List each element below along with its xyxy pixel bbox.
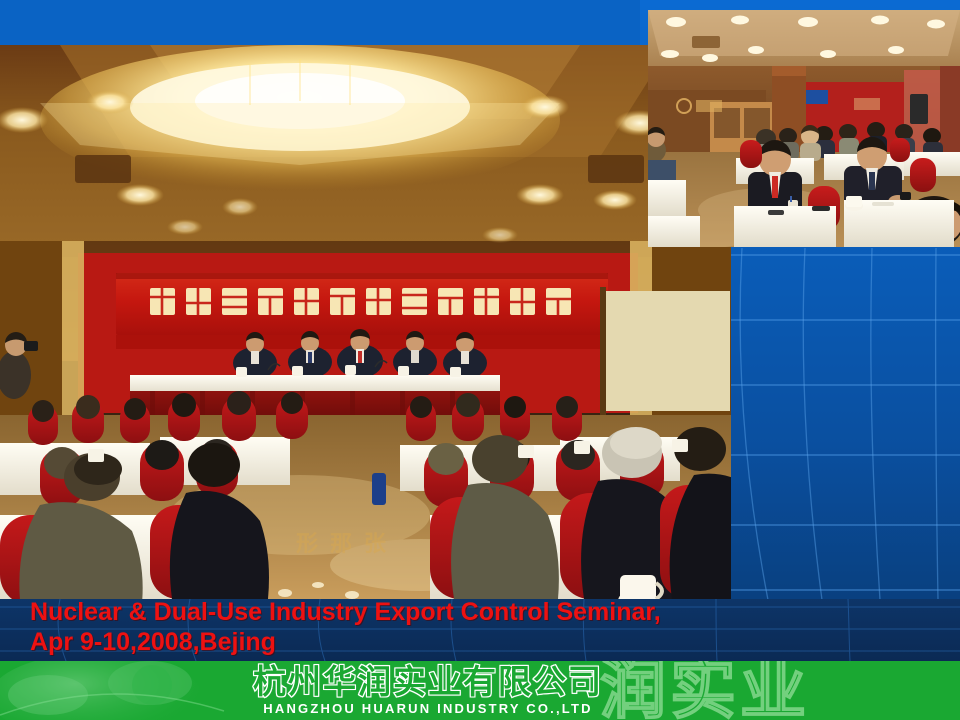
- svg-text:那: 那: [330, 532, 352, 557]
- top-blue-bar: [0, 0, 640, 46]
- svg-text:张: 张: [364, 532, 387, 557]
- conference-hall-illustration: 形那张: [0, 45, 731, 599]
- attendees-photo: [648, 10, 960, 247]
- company-name-chinese: 杭州华润实业有限公司: [198, 664, 658, 700]
- company-name-english: HANGZHOU HUARUN INDUSTRY CO.,LTD: [198, 701, 658, 716]
- conference-hall-photo: 形那张: [0, 45, 731, 599]
- presentation-slide: 形那张: [0, 0, 960, 720]
- company-logo: 杭州华润实业有限公司 HANGZHOU HUARUN INDUSTRY CO.,…: [198, 664, 658, 716]
- page-title: Nuclear & Dual-Use Industry Export Contr…: [30, 599, 661, 657]
- slide-title-band: Nuclear & Dual-Use Industry Export Contr…: [0, 599, 960, 661]
- attendees-illustration: [648, 10, 960, 247]
- svg-text:形: 形: [296, 532, 318, 557]
- company-logo-band: 润实业 杭州华润实业有限公司 HANGZHOU HUARUN INDUSTRY …: [0, 661, 960, 720]
